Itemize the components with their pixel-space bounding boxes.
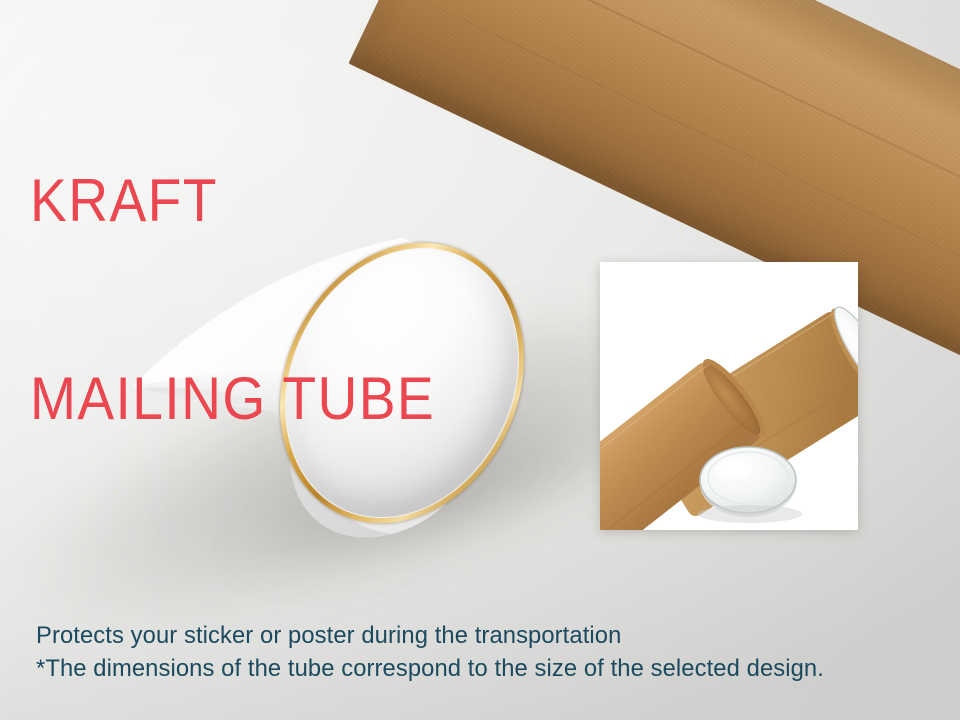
headline-line-1: KRAFT bbox=[30, 168, 435, 234]
benefit-line-2: Plastic end caps fit tightly to secure t… bbox=[36, 716, 678, 720]
inset-illustration bbox=[600, 262, 858, 530]
benefits-text: Protects your sticker or poster during t… bbox=[36, 556, 678, 720]
benefit-line-1: Protects your sticker or poster during t… bbox=[36, 620, 678, 652]
page-title: KRAFT MAILING TUBE bbox=[30, 36, 435, 564]
headline-line-2: MAILING TUBE bbox=[30, 366, 435, 432]
product-poster: KRAFT MAILING TUBE Protects your sticker… bbox=[0, 0, 960, 720]
inset-product-photo bbox=[600, 262, 858, 530]
footnote-text: *The dimensions of the tube correspond t… bbox=[36, 654, 824, 684]
